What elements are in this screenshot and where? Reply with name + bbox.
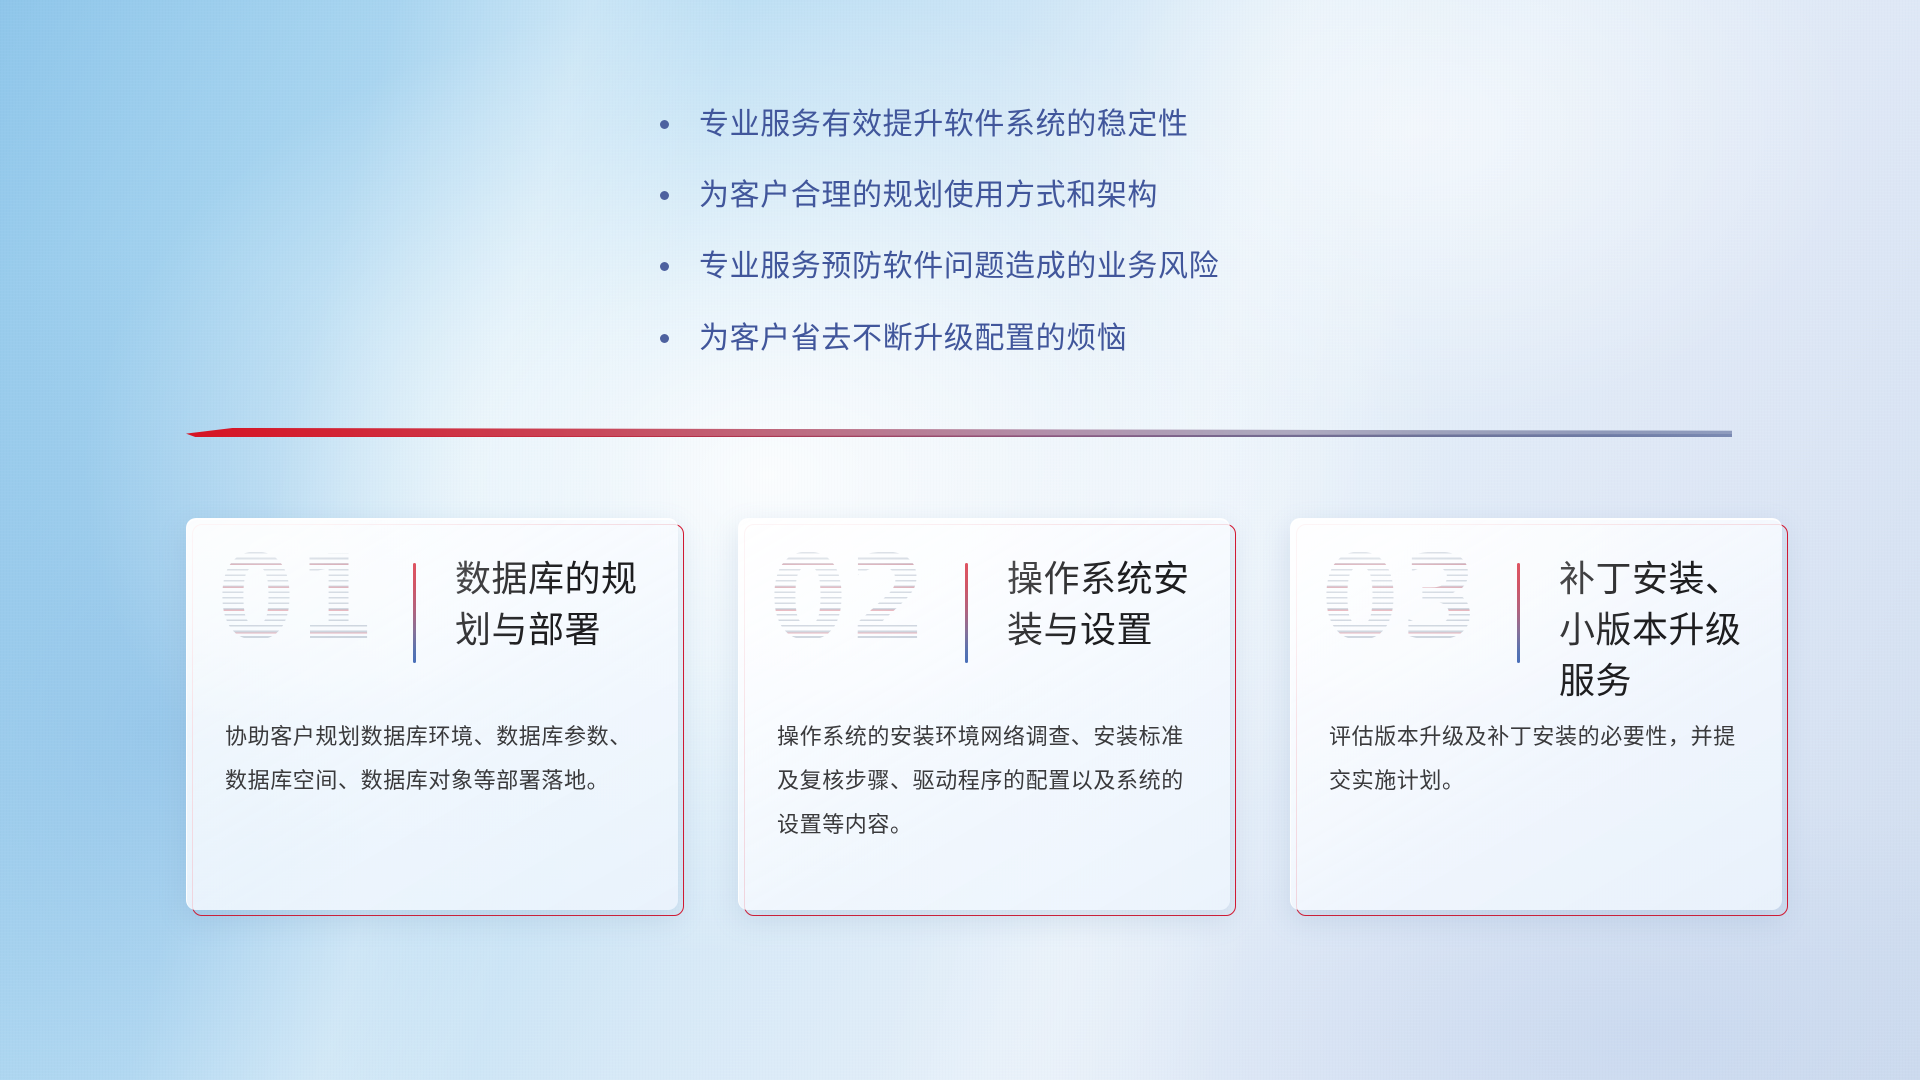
bullet-dot-icon — [660, 120, 669, 129]
card-accent-bar — [413, 563, 416, 663]
card-surface: 02 02 操作系统安装与设置 操作系统的安装环境网络调查、安装标准及复核步骤、… — [738, 518, 1230, 910]
bullet-item-label: 为客户合理的规划使用方式和架构 — [699, 176, 1158, 216]
card-surface: 03 03 补丁安装、小版本升级服务 评估版本升级及补丁安装的必要性，并提交实施… — [1290, 518, 1782, 910]
card-title: 补丁安装、小版本升级服务 — [1559, 553, 1769, 706]
bullet-item: 专业服务有效提升软件系统的稳定性 — [660, 105, 1420, 145]
bullet-item: 专业服务预防软件问题造成的业务风险 — [660, 247, 1420, 287]
card-description: 协助客户规划数据库环境、数据库参数、数据库空间、数据库对象等部署落地。 — [225, 715, 649, 803]
card-description: 操作系统的安装环境网络调查、安装标准及复核步骤、驱动程序的配置以及系统的设置等内… — [777, 715, 1201, 847]
card-description: 评估版本升级及补丁安装的必要性，并提交实施计划。 — [1329, 715, 1753, 803]
bullet-item: 为客户合理的规划使用方式和架构 — [660, 176, 1420, 216]
card-number-watermark-tint: 03 — [1321, 541, 1481, 657]
card-surface: 01 01 数据库的规划与部署 协助客户规划数据库环境、数据库参数、数据库空间、… — [186, 518, 678, 910]
card-accent-bar — [965, 563, 968, 663]
card-number-watermark-tint: 01 — [217, 541, 377, 657]
bullet-dot-icon — [660, 262, 669, 271]
service-card[interactable]: 02 02 操作系统安装与设置 操作系统的安装环境网络调查、安装标准及复核步骤、… — [738, 518, 1230, 910]
card-accent-bar — [1517, 563, 1520, 663]
benefits-bullet-list: 专业服务有效提升软件系统的稳定性 为客户合理的规划使用方式和架构 专业服务预防软… — [660, 105, 1420, 390]
bullet-item: 为客户省去不断升级配置的烦恼 — [660, 319, 1420, 359]
bullet-dot-icon — [660, 334, 669, 343]
card-title: 数据库的规划与部署 — [455, 553, 665, 655]
service-card[interactable]: 03 03 补丁安装、小版本升级服务 评估版本升级及补丁安装的必要性，并提交实施… — [1290, 518, 1782, 910]
section-divider — [186, 428, 1732, 440]
bullet-item-label: 专业服务有效提升软件系统的稳定性 — [699, 105, 1189, 145]
bullet-item-label: 为客户省去不断升级配置的烦恼 — [699, 319, 1127, 359]
bullet-dot-icon — [660, 191, 669, 200]
service-card[interactable]: 01 01 数据库的规划与部署 协助客户规划数据库环境、数据库参数、数据库空间、… — [186, 518, 678, 910]
service-card-list: 01 01 数据库的规划与部署 协助客户规划数据库环境、数据库参数、数据库空间、… — [186, 518, 1782, 910]
card-title: 操作系统安装与设置 — [1007, 553, 1217, 655]
card-number-watermark-tint: 02 — [769, 541, 929, 657]
bullet-item-label: 专业服务预防软件问题造成的业务风险 — [699, 247, 1219, 287]
